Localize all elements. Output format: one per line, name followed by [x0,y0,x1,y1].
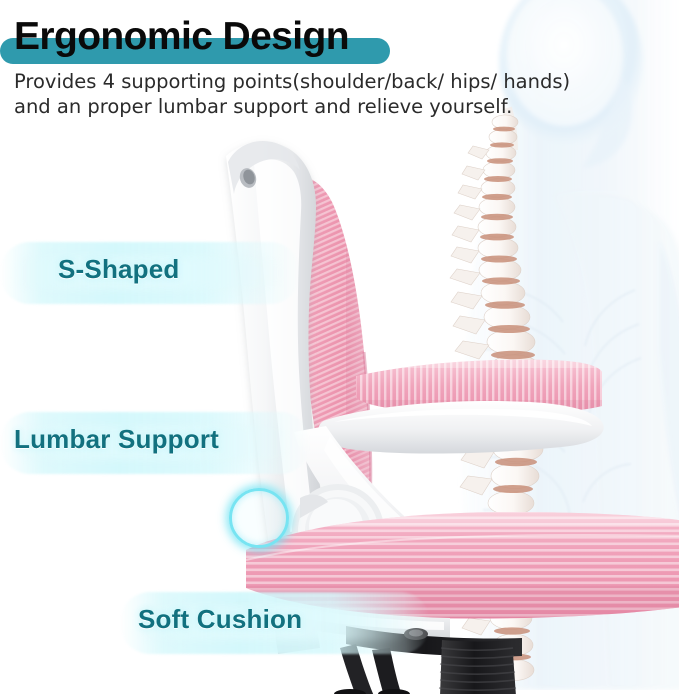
product-feature-image: Ergonomic Design Provides 4 supporting p… [0,0,679,694]
subtitle-line-1: Provides 4 supporting points(shoulder/ba… [14,69,614,94]
callout-lumbar-support: Lumbar Support [0,412,310,474]
callout-label-soft-cushion: Soft Cushion [138,604,302,635]
subtitle: Provides 4 supporting points(shoulder/ba… [14,69,614,119]
callout-label-lumbar-support: Lumbar Support [14,424,219,455]
callout-ring-icon [229,488,289,548]
callout-s-shaped: S-Shaped [0,242,300,304]
callout-soft-cushion: Soft Cushion [120,592,430,654]
callout-label-s-shaped: S-Shaped [58,254,180,285]
subtitle-line-2: and an proper lumbar support and relieve… [14,94,614,119]
title-text: Ergonomic Design [14,14,349,60]
page-title: Ergonomic Design [0,10,420,72]
